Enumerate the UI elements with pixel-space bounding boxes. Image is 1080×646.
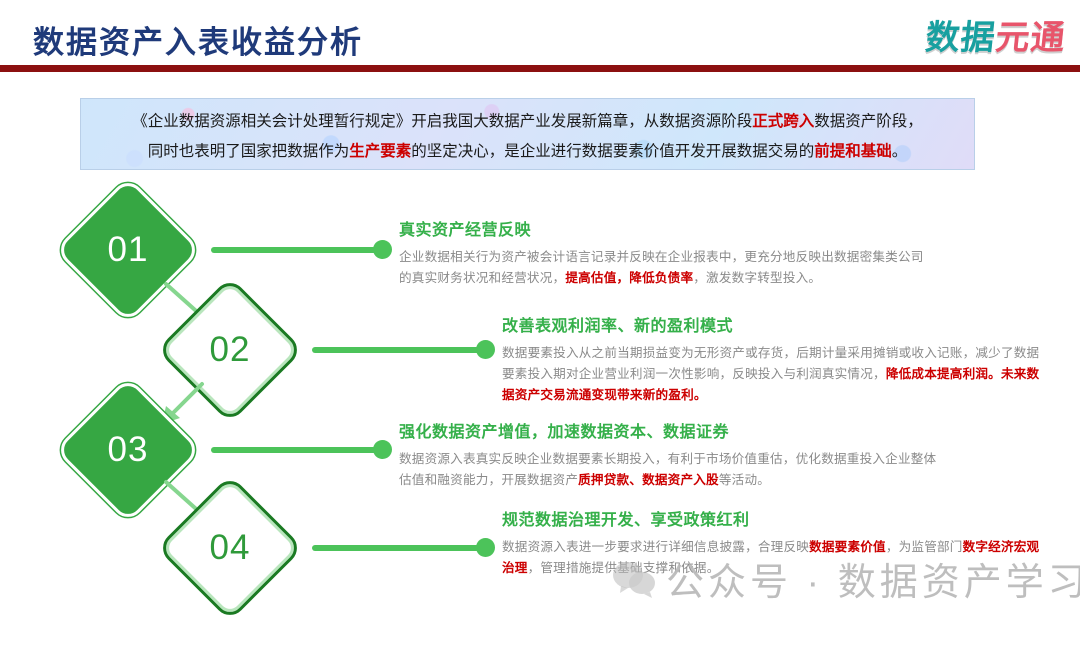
connector-line-02 <box>312 347 482 353</box>
callout-line2-highlight-1: 生产要素 <box>349 143 411 160</box>
callout-line1-highlight: 正式跨入 <box>752 113 814 130</box>
connector-dot-01 <box>373 240 392 259</box>
connector-line-01 <box>211 247 379 253</box>
step-content-03: 强化数据资产增值，加速数据资本、数据证券 数据资源入表真实反映企业数据要素长期投… <box>399 418 939 491</box>
brand-logo-part-a: 数据 <box>924 19 998 57</box>
step-body-04-b: ，为监管部门 <box>886 540 963 554</box>
step-body-02: 数据要素投入从之前当期损益变为无形资产或存货，后期计量采用摊销或收入记账，减少了… <box>502 343 1042 406</box>
callout-line-2: 同时也表明了国家把数据作为生产要素的坚定决心，是企业进行数据要素价值开发开展数据… <box>97 137 958 167</box>
brand-logo: 数据元通 <box>923 10 1068 59</box>
connector-line-03 <box>211 447 379 453</box>
step-heading-01: 真实资产经营反映 <box>399 216 929 240</box>
step-content-01: 真实资产经营反映 企业数据相关行为资产被会计语言记录并反映在企业报表中，更充分地… <box>399 216 929 289</box>
steps-flow-diagram: 01 真实资产经营反映 企业数据相关行为资产被会计语言记录并反映在企业报表中，更… <box>0 176 1080 613</box>
step-body-01-highlight: 提高估值，降低负债率 <box>565 271 693 285</box>
step-body-04-highlight-1: 数据要素价值 <box>809 540 886 554</box>
callout-line1-text-b: 数据资产阶段， <box>814 113 923 130</box>
connector-dot-04 <box>476 538 495 557</box>
callout-line2-text-b: 的坚定决心，是企业进行数据要素价值开发开展数据交易的 <box>411 143 814 160</box>
callout-line1-text-a: 《企业数据资源相关会计处理暂行规定》开启我国大数据产业发展新篇章，从数据资源阶段 <box>132 113 752 130</box>
callout-line2-text-a: 同时也表明了国家把数据作为 <box>148 143 350 160</box>
brand-logo-part-b: 元通 <box>994 19 1068 57</box>
step-body-04-a: 数据资源入表进一步要求进行详细信息披露，合理反映 <box>502 540 809 554</box>
step-body-04: 数据资源入表进一步要求进行详细信息披露，合理反映数据要素价值，为监管部门数字经济… <box>502 537 1042 579</box>
step-body-03: 数据资源入表真实反映企业数据要素长期投入，有利于市场价值重估，优化数据重投入企业… <box>399 449 939 491</box>
callout-line2-highlight-2: 前提和基础 <box>814 143 892 160</box>
callout-line-1: 《企业数据资源相关会计处理暂行规定》开启我国大数据产业发展新篇章，从数据资源阶段… <box>97 107 958 137</box>
callout-box: 《企业数据资源相关会计处理暂行规定》开启我国大数据产业发展新篇章，从数据资源阶段… <box>80 98 975 170</box>
connector-dot-02 <box>476 340 495 359</box>
step-content-04: 规范数据治理开发、享受政策红利 数据资源入表进一步要求进行详细信息披露，合理反映… <box>502 506 1042 579</box>
step-heading-04: 规范数据治理开发、享受政策红利 <box>502 506 1042 530</box>
step-body-03-highlight: 质押贷款、数据资产入股 <box>578 473 719 487</box>
connector-dot-03 <box>373 440 392 459</box>
page-title: 数据资产入表收益分析 <box>33 17 363 62</box>
step-heading-02: 改善表观利润率、新的盈利模式 <box>502 312 1042 336</box>
step-body-01-b: ，激发数字转型投入。 <box>693 271 821 285</box>
step-body-01: 企业数据相关行为资产被会计语言记录并反映在企业报表中，更充分地反映出数据密集类公… <box>399 247 929 289</box>
step-body-04-c: ，管理措施提供基础支撑和依据。 <box>528 561 720 575</box>
page-header: 数据资产入表收益分析 数据元通 <box>0 0 1080 72</box>
step-heading-03: 强化数据资产增值，加速数据资本、数据证券 <box>399 418 939 442</box>
connector-line-04 <box>312 545 482 551</box>
step-content-02: 改善表观利润率、新的盈利模式 数据要素投入从之前当期损益变为无形资产或存货，后期… <box>502 312 1042 406</box>
title-divider-rule <box>0 65 1080 72</box>
callout-line2-text-c: 。 <box>892 143 908 160</box>
step-number-04: 04 <box>181 499 279 597</box>
step-body-03-b: 等活动。 <box>719 473 770 487</box>
